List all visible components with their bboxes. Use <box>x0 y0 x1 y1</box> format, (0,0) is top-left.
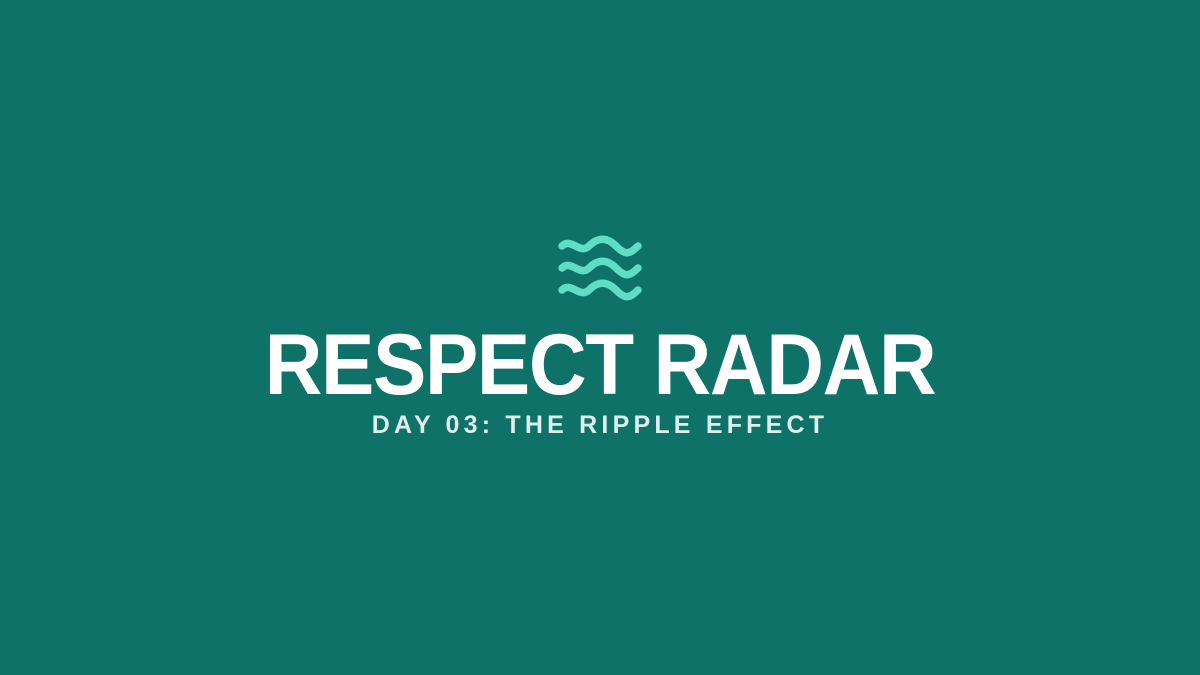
waves-icon <box>558 236 642 300</box>
subtitle-container: DAY 03: THE RIPPLE EFFECT <box>0 413 1200 438</box>
page-title: RESPECT RADAR <box>42 322 1158 408</box>
wave-line-3 <box>562 283 638 297</box>
wave-line-2 <box>562 261 638 275</box>
title-slide: RESPECT RADAR DAY 03: THE RIPPLE EFFECT <box>0 0 1200 675</box>
waves-icon-svg <box>558 236 642 300</box>
title-container: RESPECT RADAR <box>0 322 1200 408</box>
page-subtitle: DAY 03: THE RIPPLE EFFECT <box>0 413 1200 438</box>
wave-line-1 <box>562 239 638 253</box>
